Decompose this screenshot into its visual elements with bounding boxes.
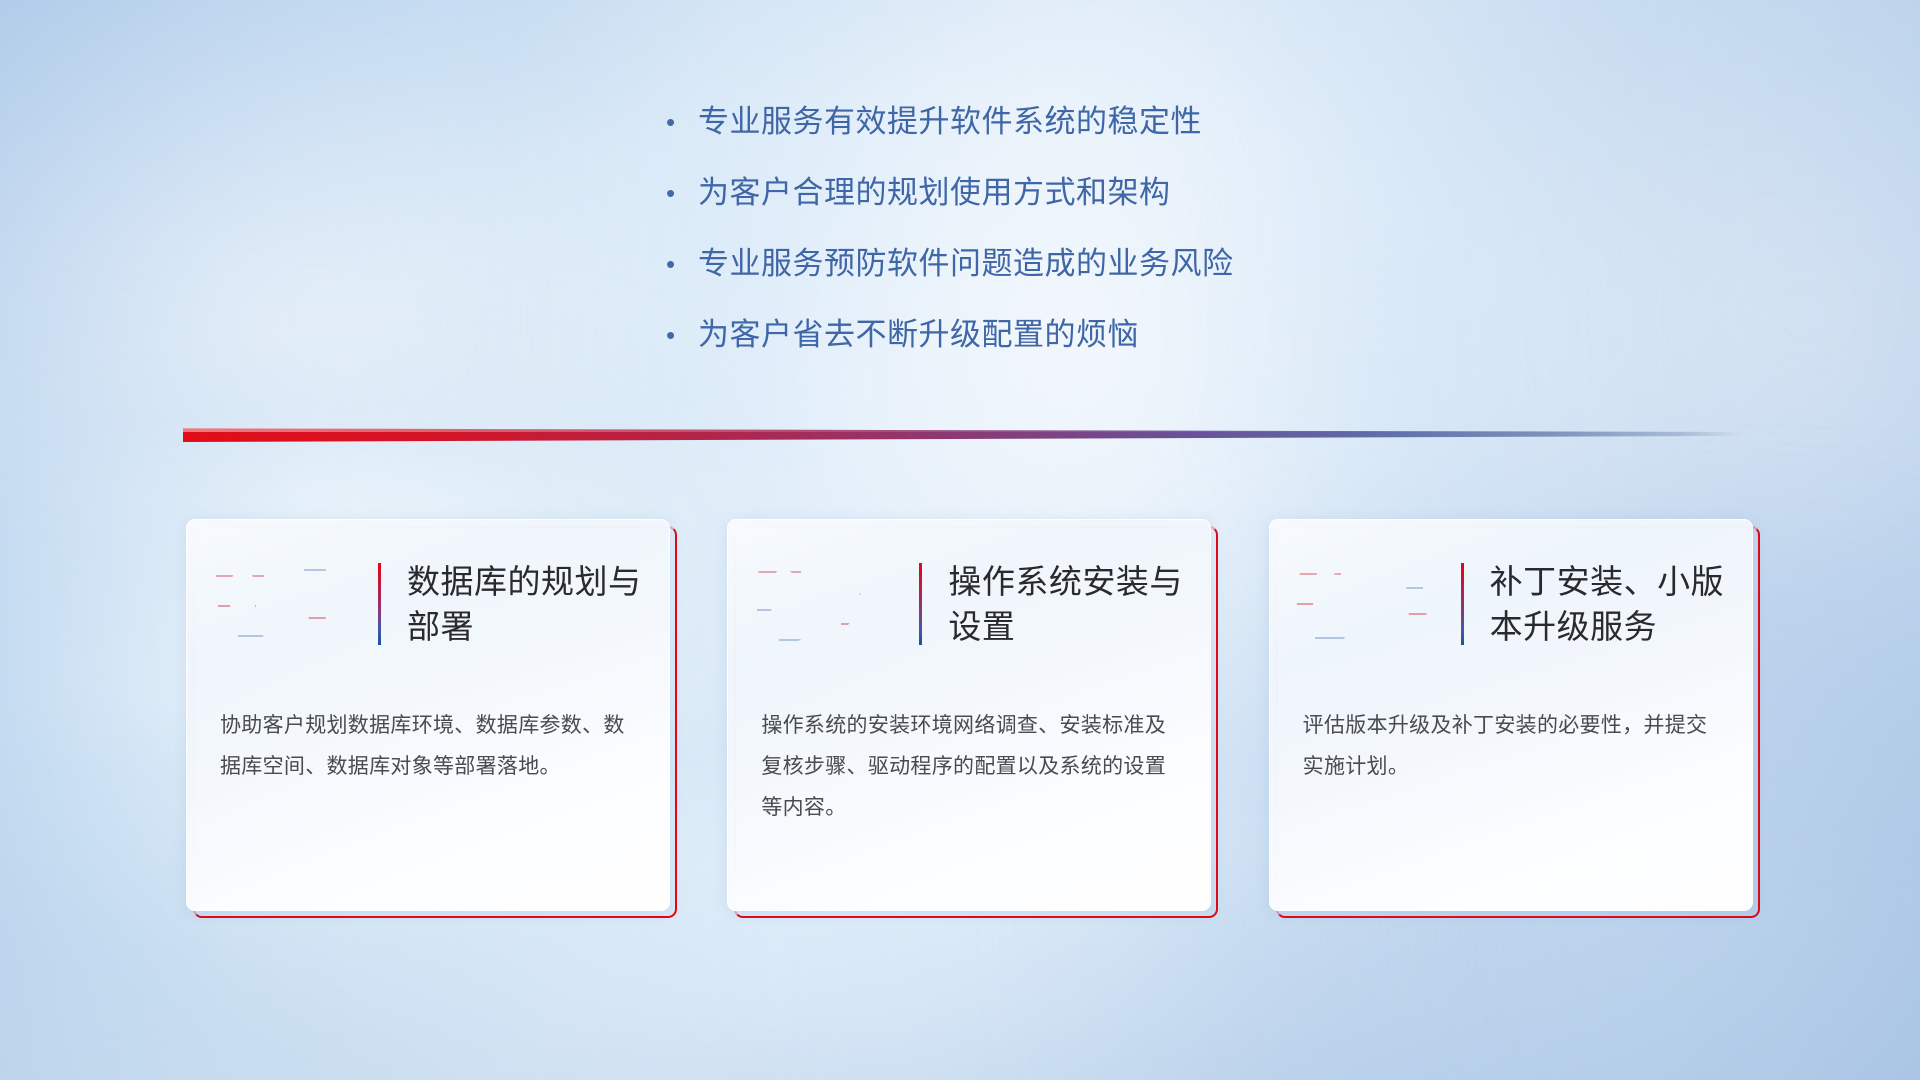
bullet-dot-icon: • <box>662 315 698 355</box>
card-description: 评估版本升级及补丁安装的必要性，并提交实施计划。 <box>1303 705 1725 787</box>
bullet-label: 专业服务有效提升软件系统的稳定性 <box>698 102 1462 142</box>
card-title-rule <box>1461 563 1464 645</box>
service-card-row: 01 <box>186 519 1752 911</box>
bullet-dot-icon: • <box>662 173 698 213</box>
bullet-dot-icon: • <box>662 244 698 284</box>
card-description: 操作系统的安装环境网络调查、安装标准及复核步骤、驱动程序的配置以及系统的设置等内… <box>761 705 1183 828</box>
card-title-rule <box>378 563 381 645</box>
card-title-rule <box>919 563 922 645</box>
bullet-item: • 专业服务有效提升软件系统的稳定性 <box>662 102 1462 142</box>
section-divider <box>183 424 1743 442</box>
card-header: 02 <box>727 543 1211 665</box>
bullet-label: 为客户合理的规划使用方式和架构 <box>698 173 1462 213</box>
card-number-watermark: 01 <box>208 548 374 660</box>
card-number-watermark: 03 <box>1291 548 1457 660</box>
service-card-03[interactable]: 03 <box>1269 519 1752 911</box>
slide-canvas: • 专业服务有效提升软件系统的稳定性 • 为客户合理的规划使用方式和架构 • 专… <box>0 0 1920 1080</box>
card-surface: 02 <box>727 519 1211 911</box>
card-description: 协助客户规划数据库环境、数据库参数、数据库空间、数据库对象等部署落地。 <box>220 705 642 787</box>
bullet-label: 为客户省去不断升级配置的烦恼 <box>698 315 1462 355</box>
divider-wedge-shape <box>183 424 1743 442</box>
divider-highlight <box>183 428 1743 432</box>
benefits-bullet-list: • 专业服务有效提升软件系统的稳定性 • 为客户合理的规划使用方式和架构 • 专… <box>662 102 1462 386</box>
card-number-watermark: 02 <box>749 548 915 660</box>
card-surface: 03 <box>1269 519 1753 911</box>
card-title: 数据库的规划与部署 <box>407 559 670 649</box>
bullet-item: • 为客户省去不断升级配置的烦恼 <box>662 315 1462 355</box>
card-header: 03 <box>1269 543 1753 665</box>
service-card-01[interactable]: 01 <box>186 519 669 911</box>
card-surface: 01 <box>186 519 670 911</box>
card-title: 补丁安装、小版本升级服务 <box>1490 559 1753 649</box>
bullet-dot-icon: • <box>662 102 698 142</box>
card-title: 操作系统安装与设置 <box>948 559 1211 649</box>
bullet-label: 专业服务预防软件问题造成的业务风险 <box>698 244 1462 284</box>
bullet-item: • 专业服务预防软件问题造成的业务风险 <box>662 244 1462 284</box>
service-card-02[interactable]: 02 <box>727 519 1210 911</box>
card-header: 01 <box>186 543 670 665</box>
bullet-item: • 为客户合理的规划使用方式和架构 <box>662 173 1462 213</box>
